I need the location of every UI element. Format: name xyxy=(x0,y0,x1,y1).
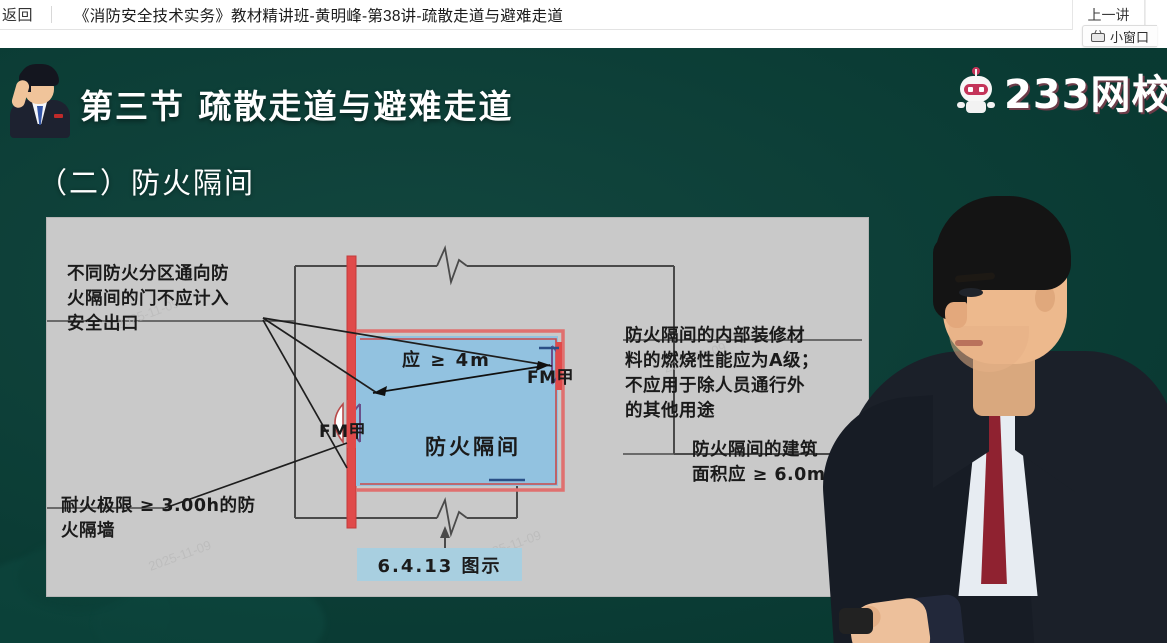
toolbar-divider xyxy=(51,6,52,23)
back-button[interactable]: 返回 xyxy=(0,0,47,30)
fire-compartment-diagram: 2025-11-09 2025-11-09 2025-11-09 2025-11… xyxy=(47,218,868,596)
slide-section-title: 第三节 疏散走道与避难走道 xyxy=(80,80,514,128)
diagram-door-label-left: FM甲 xyxy=(319,420,366,444)
course-title: 《消防安全技术实务》教材精讲班-黄明峰-第38讲-疏散走道与避难走道 xyxy=(74,4,563,26)
diagram-door-label-right: FM甲 xyxy=(527,366,574,390)
slide-subsection-title: （二）防火隔间 xyxy=(38,160,255,202)
presenter-remote xyxy=(839,608,873,634)
diagram-room-label: 防火隔间 xyxy=(425,433,521,463)
diagram-caption: 6.4.13 图示 xyxy=(357,548,522,581)
video-player-page: 返回 《消防安全技术实务》教材精讲班-黄明峰-第38讲-疏散走道与避难走道 上一… xyxy=(0,0,1167,643)
small-window-button[interactable]: 小窗口 xyxy=(1082,25,1157,47)
small-window-label: 小窗口 xyxy=(1110,27,1149,46)
top-bar: 返回 《消防安全技术实务》教材精讲班-黄明峰-第38讲-疏散走道与避难走道 上一… xyxy=(0,0,1167,30)
video-stage[interactable]: 2025-11-09 2025-11-09 2025-11-09 2025-11… xyxy=(0,48,1167,643)
diagram-label-bottom-right: 防火隔间的建筑 面积应 ≥ 6.0m² xyxy=(692,438,834,488)
diagram-label-top-right: 防火隔间的内部装修材 料的燃烧性能应为A级； 不应用于除人员通行外 的其他用途 xyxy=(625,324,819,423)
top-gap xyxy=(0,30,1167,48)
presenter-figure xyxy=(837,96,1167,643)
diagram-dimension-label: 应 ≥ 4m xyxy=(402,348,491,374)
diagram-label-bottom-left: 耐火极限 ≥ 3.00h的防 火隔墙 xyxy=(61,494,255,544)
diagram-label-top-left: 不同防火分区通向防 火隔间的门不应计入 安全出口 xyxy=(67,262,229,337)
tv-icon xyxy=(1091,30,1105,42)
presenter-avatar-icon xyxy=(8,62,72,136)
